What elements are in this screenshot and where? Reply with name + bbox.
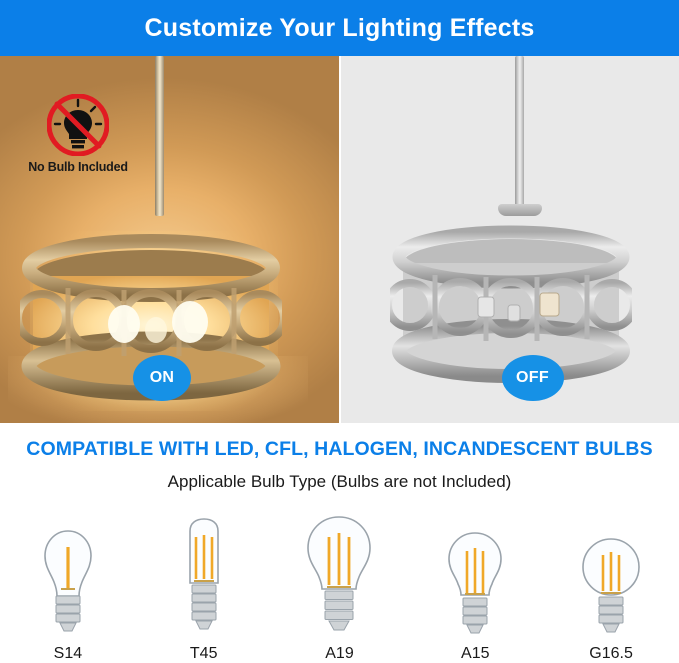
bulb-item: S14	[5, 503, 130, 663]
bulb-label: T45	[190, 645, 218, 663]
comparison-panels: No Bulb Included ON	[0, 56, 679, 423]
applicable-bulb-subhead: Applicable Bulb Type (Bulbs are not Incl…	[0, 472, 679, 492]
panel-on: No Bulb Included ON	[0, 56, 340, 423]
bulb-label: S14	[54, 645, 82, 663]
bulb-item: A15	[413, 503, 538, 663]
bulb-label: A15	[461, 645, 489, 663]
panel-divider	[339, 56, 341, 423]
bulb-type-row: S14 T45	[0, 500, 679, 663]
bulb-a19-icon	[293, 511, 385, 641]
panel-off: OFF	[340, 56, 679, 423]
pendant-rod	[515, 56, 524, 206]
pendant-rod	[155, 56, 164, 216]
state-pill-on: ON	[133, 355, 191, 401]
product-infographic: Customize Your Lighting Effects	[0, 0, 679, 663]
no-bulb-icon	[47, 94, 109, 156]
bulb-s14-icon	[25, 523, 111, 641]
bulb-item: A19	[277, 503, 402, 663]
no-bulb-badge: No Bulb Included	[22, 94, 134, 174]
compatibility-headline: COMPATIBLE WITH LED, CFL, HALOGEN, INCAN…	[0, 438, 679, 461]
header-banner: Customize Your Lighting Effects	[0, 0, 679, 56]
no-bulb-label: No Bulb Included	[22, 160, 134, 174]
bulb-g165-icon	[571, 531, 651, 641]
bulb-a15-icon	[434, 523, 516, 641]
page-title: Customize Your Lighting Effects	[144, 14, 534, 43]
bulb-label: A19	[325, 645, 353, 663]
bulb-item: T45	[141, 503, 266, 663]
bulb-t45-icon	[161, 515, 247, 641]
state-pill-off: OFF	[502, 355, 564, 401]
bulb-label: G16.5	[589, 645, 633, 663]
bulb-item: G16.5	[549, 503, 674, 663]
